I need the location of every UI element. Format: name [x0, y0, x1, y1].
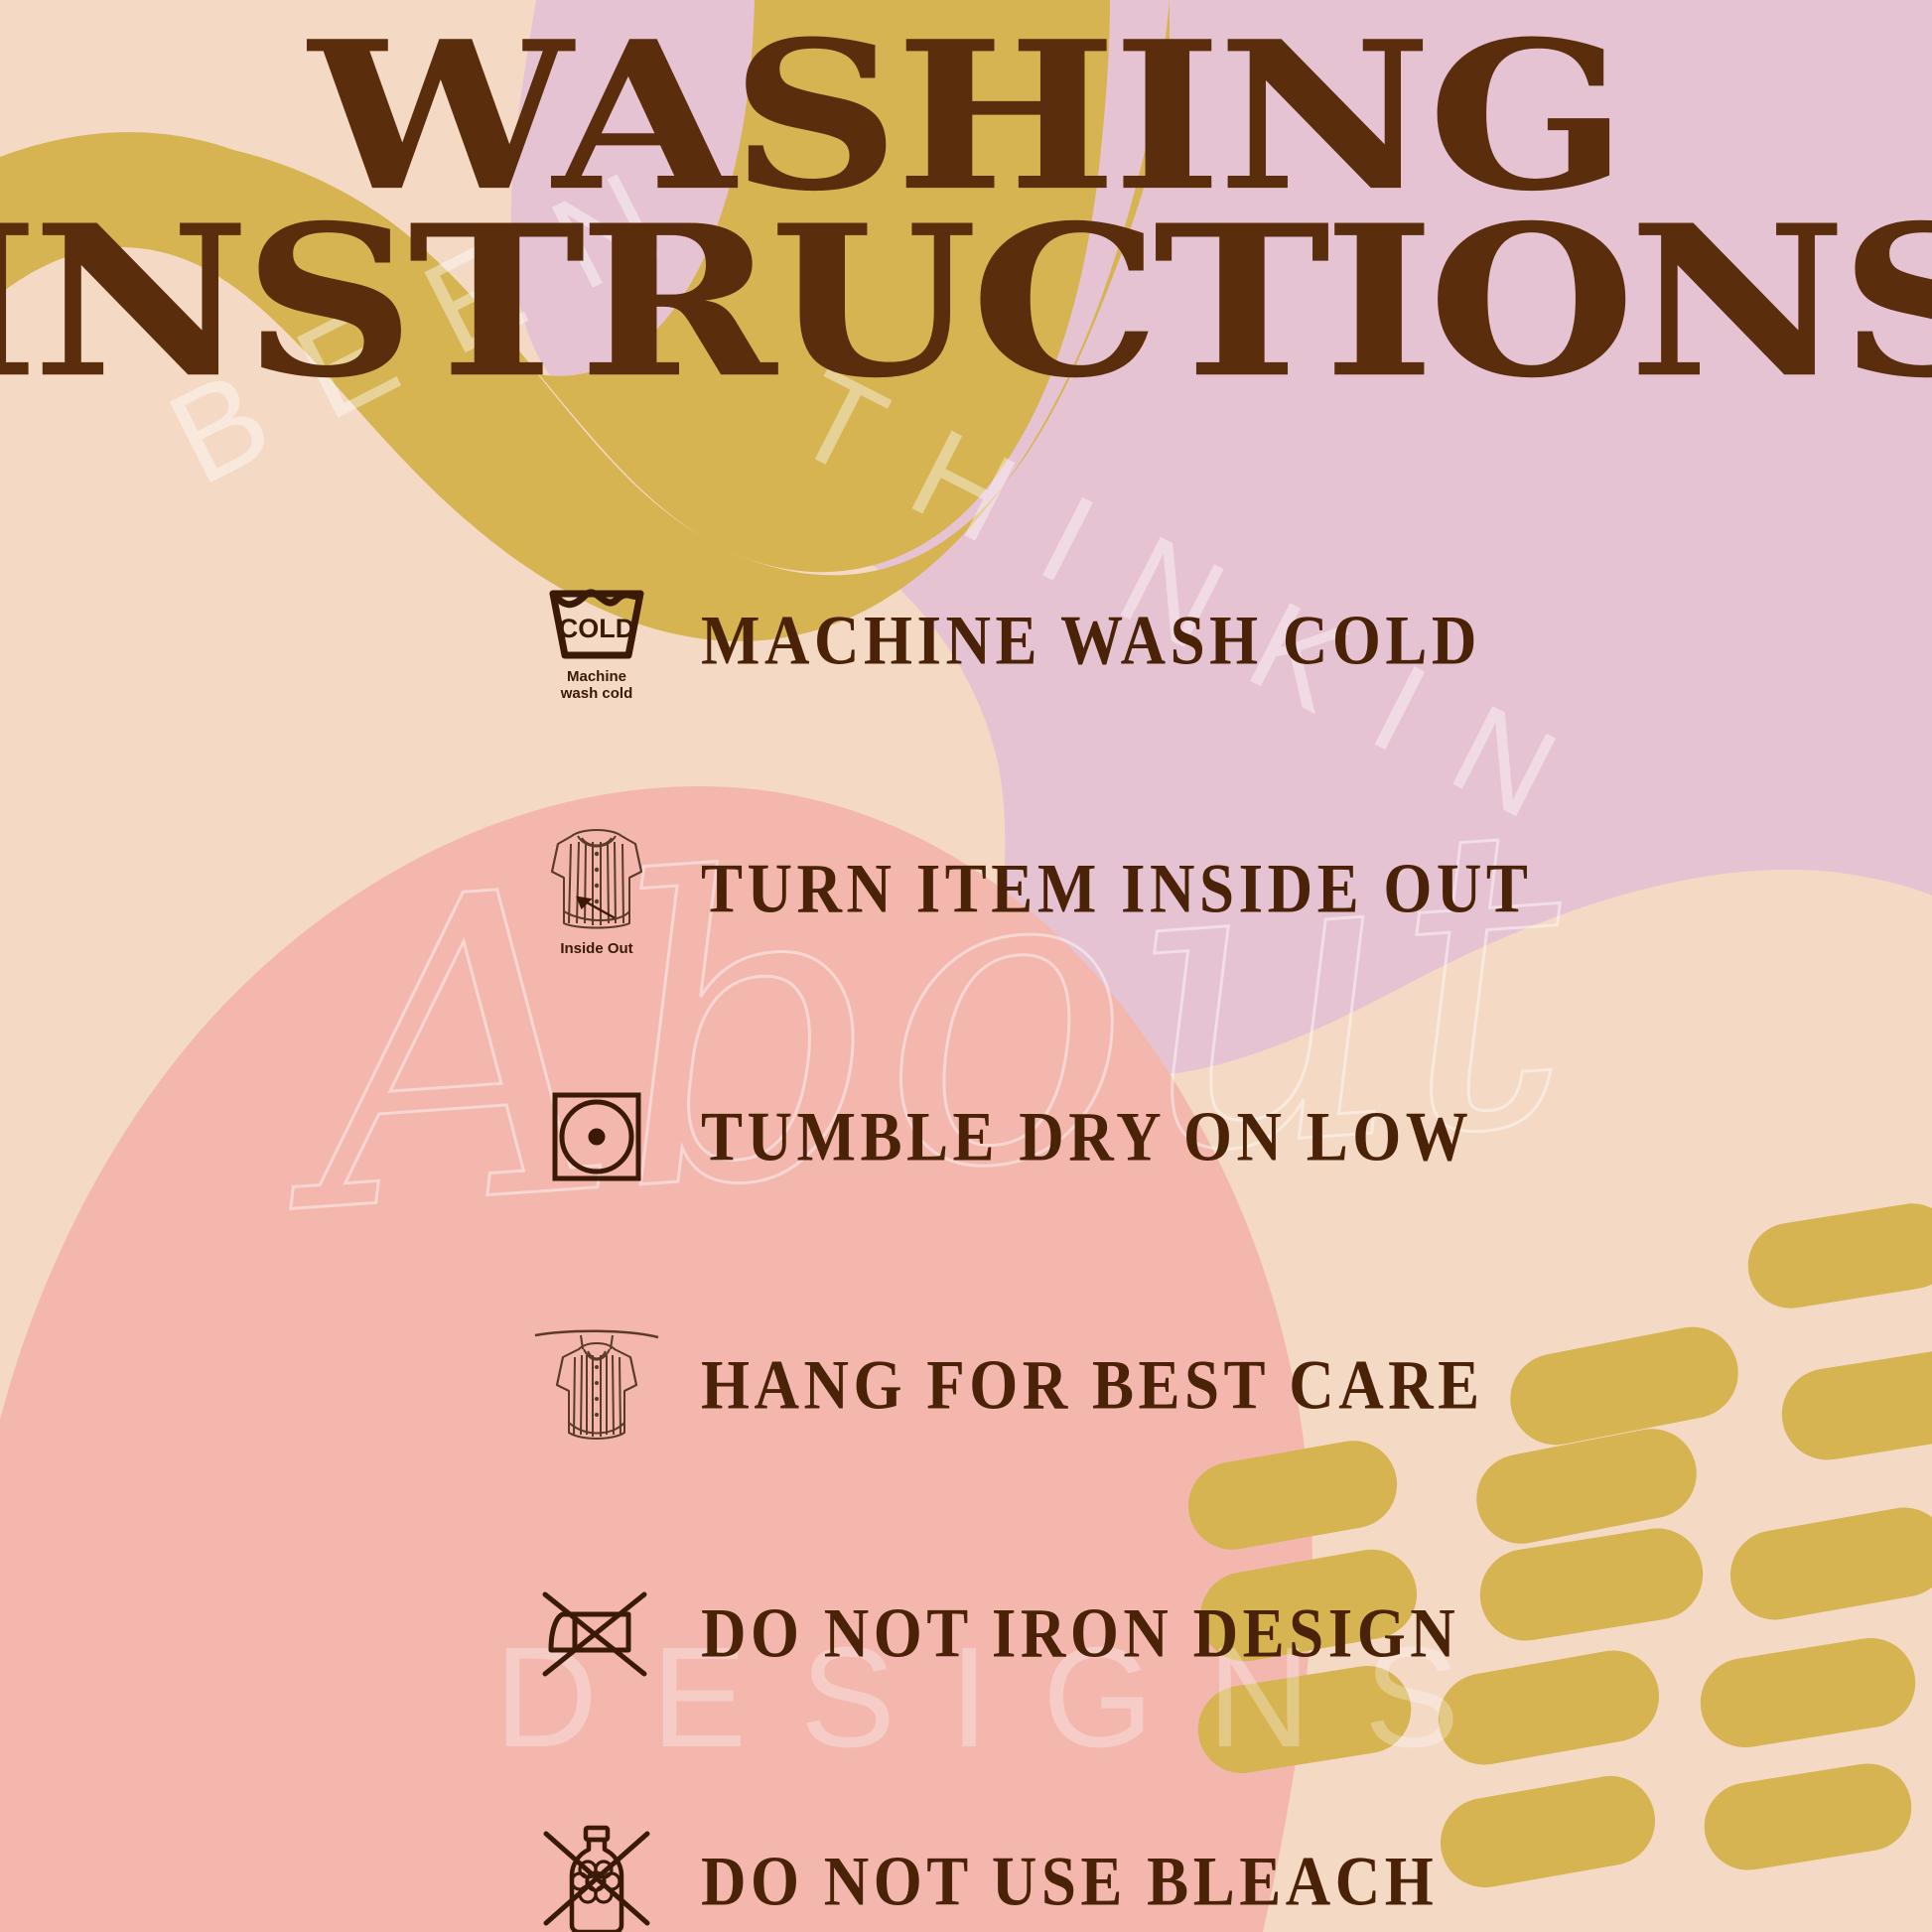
instruction-label: MACHINE WASH COLD [701, 600, 1481, 681]
list-item: TUMBLE DRY ON LOW [0, 1013, 1932, 1261]
instruction-label: TUMBLE DRY ON LOW [701, 1096, 1472, 1177]
jersey-inside-out-icon: Inside Out [538, 809, 655, 968]
wash-tub-temperature-text: COLD [559, 614, 635, 643]
page-title-line-2: INSTRUCTIONS [0, 210, 1932, 393]
instruction-label: TURN ITEM INSIDE OUT [701, 848, 1532, 929]
list-item: DO NOT IRON DESIGN [0, 1509, 1932, 1757]
icon-caption: Machine wash cold [561, 669, 633, 703]
instruction-label: HANG FOR BEST CARE [701, 1344, 1484, 1426]
list-item: HANG FOR BEST CARE [0, 1261, 1932, 1509]
no-iron-icon [538, 1554, 655, 1713]
page-title: WASHING INSTRUCTIONS [0, 27, 1932, 379]
list-item: Inside Out TURN ITEM INSIDE OUT [0, 764, 1932, 1013]
list-item: DO NOT USE BLEACH [0, 1757, 1932, 1932]
no-bleach-icon [538, 1802, 655, 1932]
washing-instructions-poster: BEEN THINKIN About DESIGNS WASHING INSTR… [0, 0, 1932, 1932]
hanging-jersey-icon [538, 1306, 655, 1464]
instruction-list: COLD Machine wash cold MACHINE WASH COLD [0, 516, 1932, 1932]
tumble-dry-low-icon [538, 1057, 655, 1216]
icon-caption: Inside Out [560, 941, 632, 958]
instruction-label: DO NOT USE BLEACH [701, 1841, 1438, 1922]
list-item: COLD Machine wash cold MACHINE WASH COLD [0, 516, 1932, 764]
instruction-label: DO NOT IRON DESIGN [701, 1592, 1459, 1674]
wash-tub-cold-icon: COLD Machine wash cold [538, 561, 655, 720]
